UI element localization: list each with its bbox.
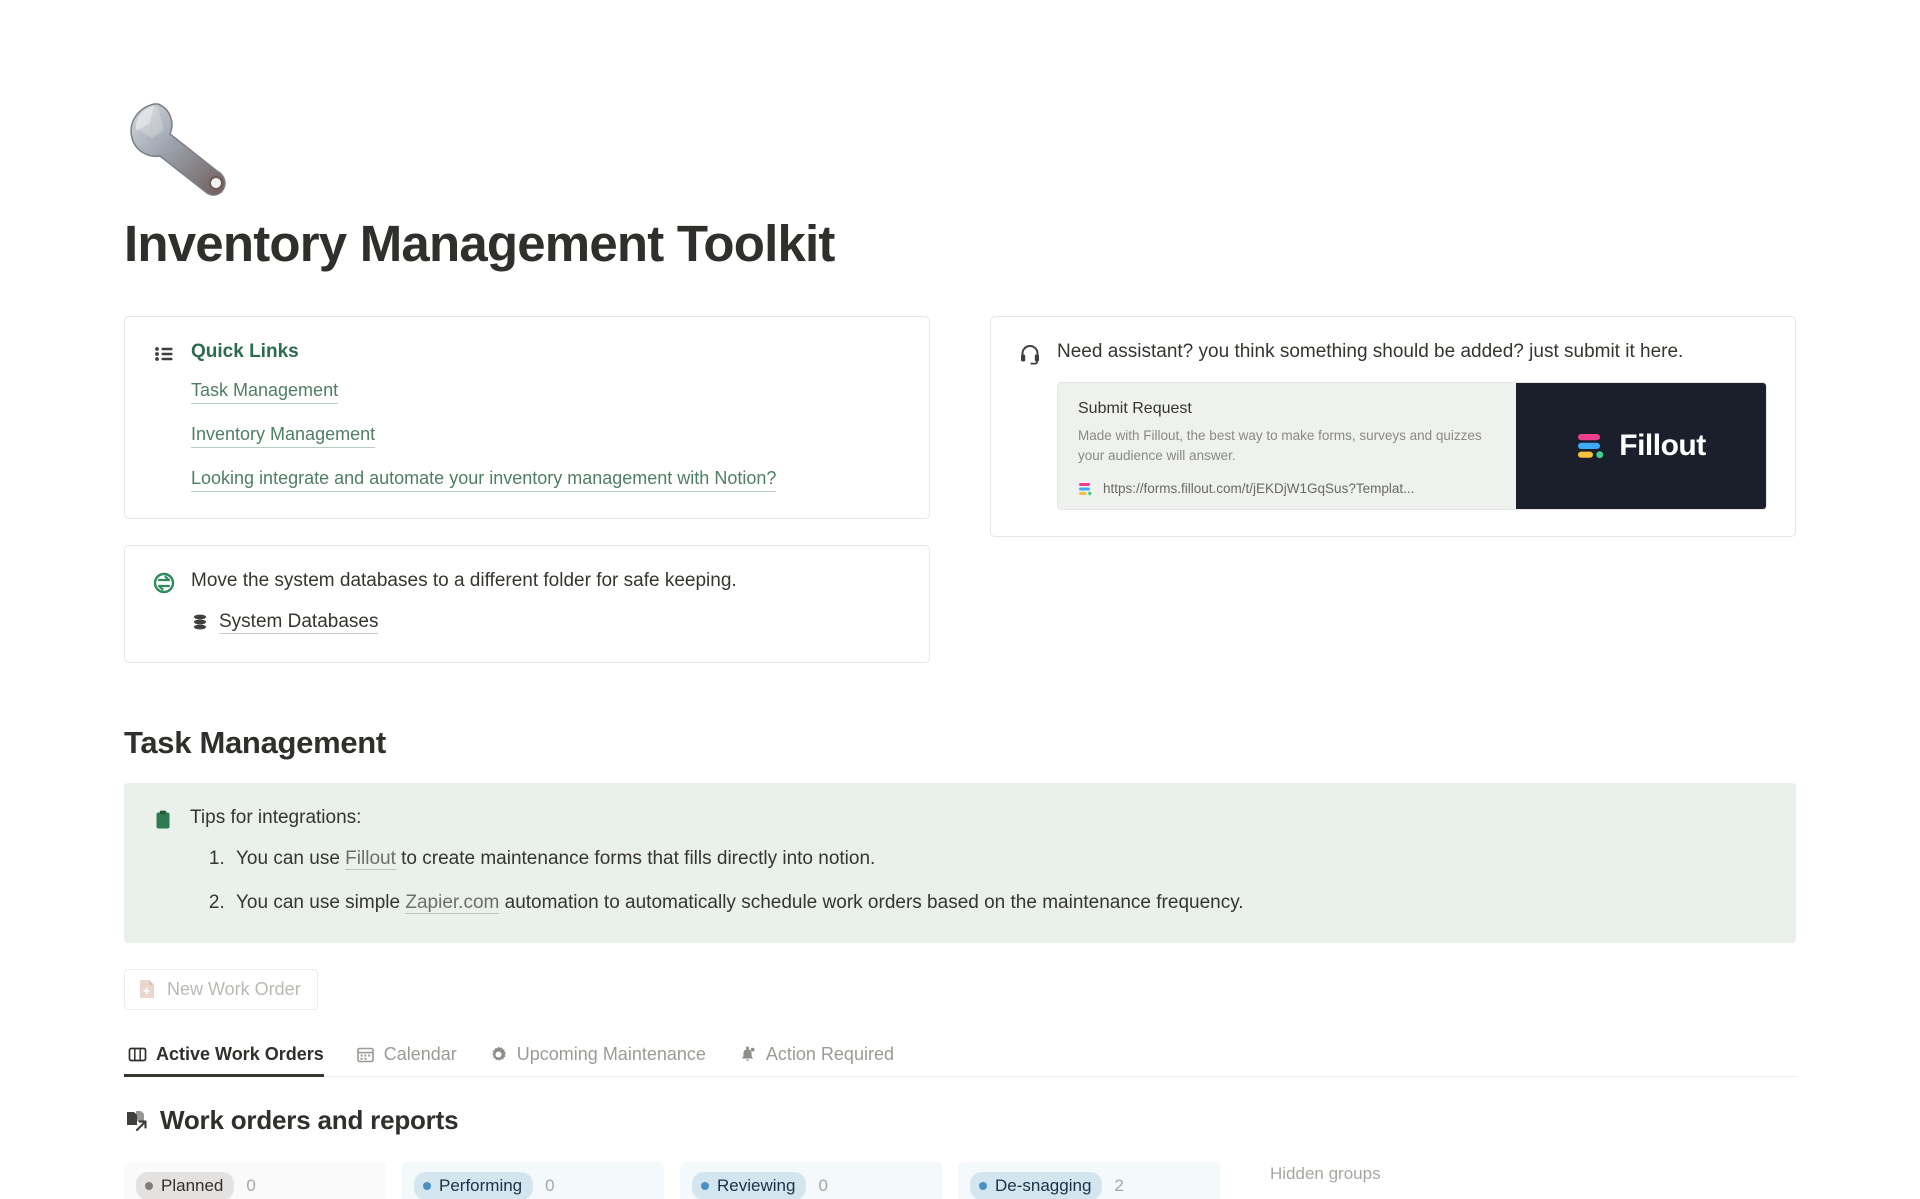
tips-callout-title: Tips for integrations: — [190, 805, 361, 831]
top-cards-row: Quick Links Task Management Inventory Ma… — [124, 316, 1796, 663]
assist-card: Need assistant? you think something shou… — [990, 316, 1796, 537]
new-document-icon — [138, 979, 156, 999]
tab-calendar[interactable]: Calendar — [352, 1038, 471, 1076]
right-column: Need assistant? you think something shou… — [990, 316, 1796, 537]
board-column-reviewing: Reviewing 0 — [680, 1162, 942, 1199]
tab-action-required-label: Action Required — [766, 1044, 894, 1065]
tab-action-required[interactable]: Action Required — [734, 1038, 908, 1076]
tab-active-work-orders-label: Active Work Orders — [156, 1044, 324, 1065]
status-dot-de-snagging — [979, 1182, 987, 1190]
board-column-performing: Performing 0 — [402, 1162, 664, 1199]
linked-database-icon — [124, 1108, 148, 1132]
tip-2-pre: You can use simple — [236, 892, 405, 913]
tips-list: You can use Fillout to create maintenanc… — [230, 845, 1768, 916]
move-databases-card: Move the system databases to a different… — [124, 545, 930, 663]
tab-calendar-label: Calendar — [384, 1044, 457, 1065]
quick-links-title: Quick Links — [191, 339, 299, 365]
fillout-embed[interactable]: Submit Request Made with Fillout, the be… — [1057, 382, 1767, 510]
status-badge-de-snagging[interactable]: De-snagging — [970, 1172, 1102, 1199]
new-work-order-button[interactable]: New Work Order — [124, 969, 318, 1010]
new-work-order-label: New Work Order — [167, 979, 301, 1000]
fillout-embed-url: https://forms.fillout.com/t/jEKDjW1GqSus… — [1103, 481, 1414, 496]
hidden-groups-label: Hidden groups — [1270, 1164, 1394, 1184]
status-dot-performing — [423, 1182, 431, 1190]
notion-page: Inventory Management Toolkit — [0, 98, 1920, 1199]
quick-link-integrate-automate[interactable]: Looking integrate and automate your inve… — [191, 465, 776, 492]
fillout-embed-description: Made with Fillout, the best way to make … — [1078, 426, 1496, 465]
bulleted-list-icon — [153, 343, 175, 365]
fillout-embed-info: Submit Request Made with Fillout, the be… — [1058, 383, 1516, 509]
tip-2-link-zapier[interactable]: Zapier.com — [405, 892, 499, 914]
kanban-board: Planned 0 Performing 0 Reviewing 0 — [124, 1162, 1796, 1199]
tips-list-item-2: You can use simple Zapier.com automation… — [230, 889, 1768, 917]
move-databases-text: Move the system databases to a different… — [191, 568, 737, 595]
status-badge-reviewing[interactable]: Reviewing — [692, 1172, 806, 1199]
column-count-reviewing: 0 — [818, 1176, 827, 1196]
fillout-embed-title: Submit Request — [1078, 399, 1496, 420]
fillout-favicon-icon — [1078, 481, 1094, 497]
tips-callout: Tips for integrations: You can use Fillo… — [124, 783, 1796, 942]
tip-1-link-fillout[interactable]: Fillout — [345, 848, 396, 870]
clipboard-icon — [152, 809, 174, 831]
status-badge-performing[interactable]: Performing — [414, 1172, 533, 1199]
quick-link-inventory-management[interactable]: Inventory Management — [191, 421, 375, 448]
tip-1-post: to create maintenance forms that fills d… — [396, 848, 875, 869]
wrench-icon[interactable] — [124, 98, 244, 202]
column-count-performing: 0 — [545, 1176, 554, 1196]
status-dot-planned — [145, 1182, 153, 1190]
system-databases-label: System Databases — [219, 611, 378, 634]
fillout-brand-name: Fillout — [1619, 429, 1705, 463]
tab-upcoming-maintenance-label: Upcoming Maintenance — [517, 1044, 706, 1065]
board-column-planned: Planned 0 — [124, 1162, 386, 1199]
bell-icon — [738, 1045, 757, 1064]
quick-link-task-management[interactable]: Task Management — [191, 377, 338, 404]
status-label-reviewing: Reviewing — [717, 1175, 795, 1197]
page-title: Inventory Management Toolkit — [124, 216, 1796, 272]
status-label-planned: Planned — [161, 1175, 223, 1197]
view-tabs: Active Work Orders Calendar — [124, 1038, 1796, 1077]
tip-1-pre: You can use — [236, 848, 345, 869]
tip-2-post: automation to automatically schedule wor… — [499, 892, 1243, 913]
status-badge-planned[interactable]: Planned — [136, 1172, 234, 1199]
fillout-brand-panel: Fillout — [1516, 383, 1766, 509]
gear-icon — [489, 1045, 508, 1064]
status-label-de-snagging: De-snagging — [995, 1175, 1091, 1197]
database-icon — [191, 613, 209, 631]
hidden-groups-section: Hidden groups Archived 0 — [1270, 1162, 1394, 1199]
status-dot-reviewing — [701, 1182, 709, 1190]
assist-text: Need assistant? you think something shou… — [1057, 339, 1683, 366]
calendar-icon — [356, 1045, 375, 1064]
fillout-logo-icon — [1576, 430, 1608, 462]
status-label-performing: Performing — [439, 1175, 522, 1197]
column-count-planned: 0 — [246, 1176, 255, 1196]
task-management-heading: Task Management — [124, 725, 1796, 761]
column-count-de-snagging: 2 — [1114, 1176, 1123, 1196]
tab-upcoming-maintenance[interactable]: Upcoming Maintenance — [485, 1038, 720, 1076]
system-databases-link[interactable]: System Databases — [191, 611, 378, 634]
board-icon — [128, 1045, 147, 1064]
fillout-embed-url-row[interactable]: https://forms.fillout.com/t/jEKDjW1GqSus… — [1078, 481, 1496, 497]
tips-list-item-1: You can use Fillout to create maintenanc… — [230, 845, 1768, 873]
headset-icon — [1019, 343, 1041, 365]
recycle-arrows-icon — [153, 572, 175, 594]
quick-links-list: Task Management Inventory Management Loo… — [153, 377, 901, 492]
board-title: Work orders and reports — [160, 1105, 458, 1136]
tab-active-work-orders[interactable]: Active Work Orders — [124, 1038, 338, 1076]
board-title-row: Work orders and reports — [124, 1105, 1796, 1136]
quick-links-card: Quick Links Task Management Inventory Ma… — [124, 316, 930, 519]
board-column-de-snagging: De-snagging 2 Emergency — [958, 1162, 1220, 1199]
left-column: Quick Links Task Management Inventory Ma… — [124, 316, 930, 663]
